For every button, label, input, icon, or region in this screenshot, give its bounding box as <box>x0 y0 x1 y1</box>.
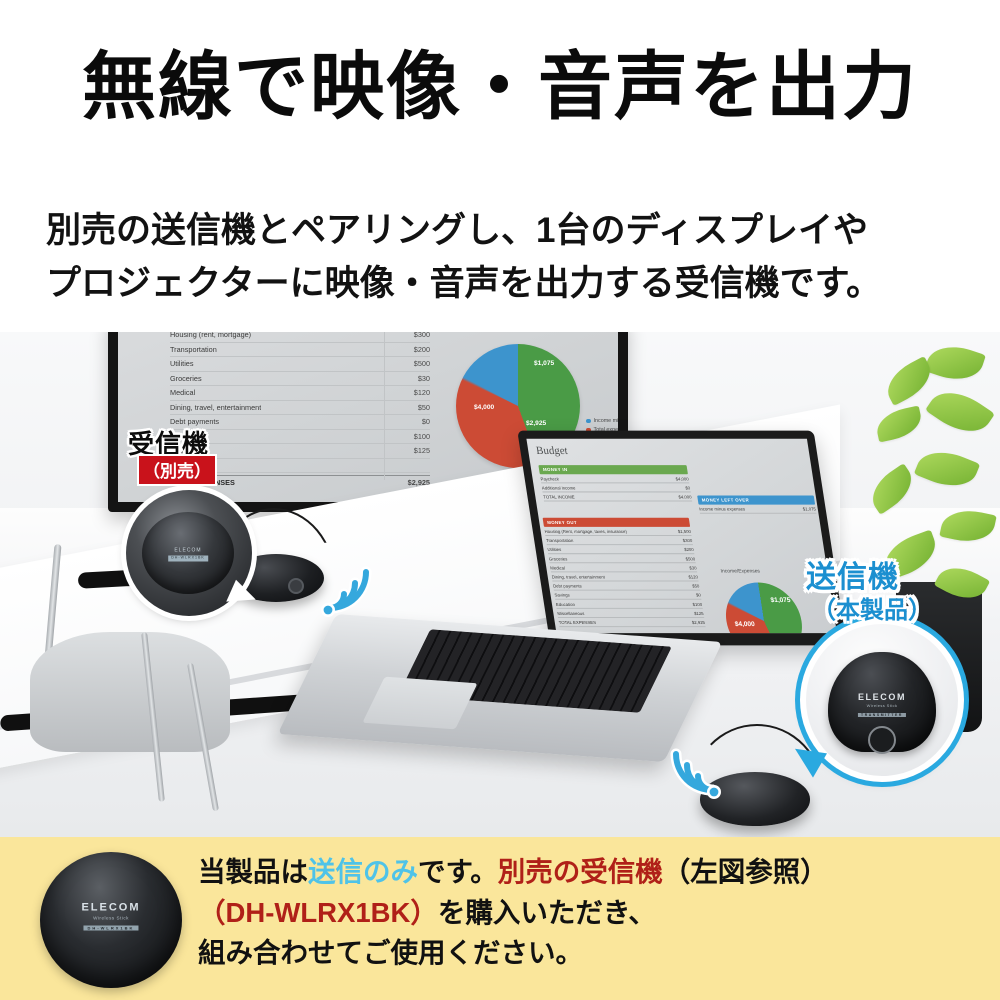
row-value: $0 <box>685 485 691 490</box>
row-label: Medical <box>550 565 565 570</box>
table-row: Medical$120 <box>170 386 430 401</box>
footer-line1-part1: 当製品は <box>198 856 308 887</box>
table-row: Utilities$500 <box>170 357 430 372</box>
footer-line1-highlight: 送信のみ <box>308 856 418 887</box>
row-value: $125 <box>694 610 704 615</box>
table-row: Additional income$0 <box>541 483 691 492</box>
laptop-chart-title: Income/Expenses <box>720 568 760 574</box>
footer-device-branding: ELECOM Wireless Stick DH-WLRX1BK <box>81 902 140 933</box>
page-subtitle: 別売の送信機とペアリングし、1台のディスプレイや プロジェクターに映像・音声を出… <box>46 205 976 310</box>
product-marketing-image: 無線で映像・音声を出力 別売の送信機とペアリングし、1台のディスプレイや プロジ… <box>0 0 1000 1000</box>
money-left-header-label: MONEY LEFT OVER <box>697 495 815 502</box>
row-value: $4,000 <box>675 476 689 481</box>
table-row: Dining, travel, entertainment$50 <box>170 401 430 416</box>
pie-slice-label-red: $2,925 <box>526 420 546 427</box>
table-total-row: TOTAL INCOME$4,000 <box>543 492 693 501</box>
pie-slice-label-blue: $1,075 <box>534 360 554 367</box>
row-value: $1,075 <box>802 506 816 511</box>
table-row: Savings$0 <box>554 591 702 600</box>
total-label: TOTAL EXPENSES <box>558 620 596 625</box>
row-value: $100 <box>692 601 702 606</box>
receiver-brand-text: ELECOM <box>168 547 208 555</box>
legend-item: Income minus expenses <box>586 418 618 424</box>
row-value: $200 <box>684 547 694 552</box>
transmitter-label-sub: （本製品） <box>812 590 932 625</box>
laptop-pie-label-green: $4,000 <box>734 621 755 628</box>
transmitter-model-text: Wireless Stick <box>858 703 906 708</box>
laptop-lid: Budget MONEY IN Paycheck$4,000 Additiona… <box>517 431 846 646</box>
wifi-icon <box>318 560 382 618</box>
row-label: Groceries <box>170 374 202 383</box>
footer-line1-part3: （左図参照） <box>663 856 828 887</box>
footer-line1-part2: です。 <box>418 856 498 887</box>
receiver-callout-bubble: ELECOM DH-WLRX1BK <box>126 490 252 616</box>
receiver-model-chip: DH-WLRX1BK <box>168 556 208 561</box>
transmitter-code-chip: TRANSMITTER <box>858 713 906 717</box>
footer-device-model-text: Wireless Stick <box>81 916 140 921</box>
transmitter-callout-disc: ELECOM Wireless Stick TRANSMITTER <box>806 624 958 776</box>
laptop-screen: Budget MONEY IN Paycheck$4,000 Additiona… <box>526 439 837 633</box>
receiver-product-image: ELECOM DH-WLRX1BK <box>142 512 234 594</box>
receiver-label-badge: （別売） <box>139 456 215 484</box>
row-value: $200 <box>414 345 430 354</box>
row-label: Utilities <box>547 547 561 552</box>
transmitter-callout-bubble: ELECOM Wireless Stick TRANSMITTER <box>806 624 958 776</box>
table-row: Utilities$200 <box>547 545 695 554</box>
page-title: 無線で映像・音声を出力 <box>0 48 1000 126</box>
footer-line-2: （DH-WLRX1BK）を購入いただき、 <box>198 893 988 934</box>
transmitter-product-image: ELECOM Wireless Stick TRANSMITTER <box>828 652 936 752</box>
header-section: 無線で映像・音声を出力 別売の送信機とペアリングし、1台のディスプレイや プロジ… <box>0 0 1000 332</box>
table-total-row: TOTAL EXPENSES$2,925 <box>558 618 706 627</box>
table-row: Income minus expenses$1,075 <box>699 505 817 514</box>
row-label: Transportation <box>170 345 217 354</box>
footer-note-text: 当製品は送信のみです。別売の受信機（左図参照） （DH-WLRX1BK）を購入い… <box>198 852 988 974</box>
money-out-header-label: MONEY OUT <box>543 518 690 525</box>
table-row: Miscellaneous$125 <box>557 609 705 618</box>
money-in-header-label: MONEY IN <box>538 465 687 472</box>
row-label: Housing (Rent, mortgage, taxes, insuranc… <box>544 528 627 533</box>
table-row: Debt payments$50 <box>552 582 700 591</box>
row-label: Dining, travel, entertainment <box>551 574 605 579</box>
table-row: Medical$30 <box>550 563 698 572</box>
subtitle-line-1: 別売の送信機とペアリングし、1台のディスプレイや <box>46 205 976 258</box>
row-value: $120 <box>688 574 698 579</box>
row-value: $500 <box>685 556 695 561</box>
footer-line2-red: （DH-WLRX1BK） <box>198 897 438 928</box>
row-label: Debt payments <box>553 583 582 588</box>
legend-label: Income minus expenses <box>594 418 619 424</box>
money-in-section: MONEY IN Paycheck$4,000 Additional incom… <box>538 465 692 501</box>
row-value: $0 <box>422 417 430 426</box>
footer-receiver-image: ELECOM Wireless Stick DH-WLRX1BK <box>40 852 182 988</box>
row-label: Education <box>555 601 575 606</box>
table-row: Dining, travel, entertainment$120 <box>551 572 699 581</box>
row-label: Housing (rent, mortgage) <box>170 332 251 339</box>
receiver-branding: ELECOM DH-WLRX1BK <box>168 547 208 562</box>
row-label: Dining, travel, entertainment <box>170 403 261 412</box>
money-left-header: MONEY LEFT OVER <box>697 495 815 504</box>
row-value: $30 <box>689 565 697 570</box>
row-label: Paycheck <box>540 476 559 481</box>
table-row: Housing (rent, mortgage)$300 <box>170 332 430 343</box>
product-photo: Housing (rent, mortgage)$300 Transportat… <box>0 332 1000 837</box>
table-row: Paycheck$4,000 <box>540 474 690 483</box>
money-out-header: MONEY OUT <box>543 518 691 527</box>
table-row: Education$100 <box>555 600 703 609</box>
row-label: Medical <box>170 388 195 397</box>
total-label: TOTAL INCOME <box>543 494 575 499</box>
row-label: Additional income <box>541 485 575 490</box>
row-value: $50 <box>692 583 700 588</box>
table-row: Transportation$200 <box>170 343 430 358</box>
table-row: Transportation$300 <box>545 536 693 545</box>
subtitle-line-2: プロジェクターに映像・音声を出力する受信機です。 <box>46 258 976 311</box>
row-label: Transportation <box>546 537 574 542</box>
row-label: Savings <box>554 592 570 597</box>
row-value: $50 <box>418 403 430 412</box>
money-in-header: MONEY IN <box>538 465 688 474</box>
row-label: Groceries <box>548 556 567 561</box>
money-out-section: MONEY OUT Housing (Rent, mortgage, taxes… <box>543 518 706 627</box>
table-row: Housing (Rent, mortgage, taxes, insuranc… <box>544 527 692 536</box>
footer-line1-red: 別売の受信機 <box>498 856 663 887</box>
row-label: Utilities <box>170 359 194 368</box>
row-value: $120 <box>414 388 430 397</box>
transmitter-brand-text: ELECOM <box>858 692 906 702</box>
transmitter-power-button[interactable] <box>868 726 896 754</box>
pie-slice-label-green: $4,000 <box>474 404 494 411</box>
budget-app-title: Budget <box>535 445 568 457</box>
row-value: $300 <box>414 332 430 339</box>
row-value: $500 <box>414 359 430 368</box>
legend-swatch-blue <box>586 419 591 424</box>
table-row: Groceries$500 <box>548 554 696 563</box>
footer-device-code-chip: DH-WLRX1BK <box>84 926 139 931</box>
row-value: $1,500 <box>677 528 691 533</box>
footer-line-3: 組み合わせてご使用ください。 <box>198 933 988 974</box>
row-value: $0 <box>696 592 702 597</box>
wifi-icon <box>660 742 724 800</box>
row-label: Miscellaneous <box>557 610 585 615</box>
laptop-pie-body <box>720 583 807 634</box>
laptop-pie-label-blue: $1,075 <box>770 597 791 604</box>
total-value: $4,000 <box>678 494 692 499</box>
row-label: Income minus expenses <box>699 506 746 511</box>
footer-line-1: 当製品は送信のみです。別売の受信機（左図参照） <box>198 852 988 893</box>
row-value: $30 <box>418 374 430 383</box>
table-row: Groceries$30 <box>170 372 430 387</box>
transmitter-branding: ELECOM Wireless Stick TRANSMITTER <box>858 692 906 718</box>
money-left-section: MONEY LEFT OVER Income minus expenses$1,… <box>697 495 816 513</box>
row-value: $300 <box>682 537 692 542</box>
footer-device-brand-text: ELECOM <box>81 902 140 914</box>
total-value: $2,925 <box>691 620 705 625</box>
footer-line2-part1: を購入いただき、 <box>438 897 656 928</box>
